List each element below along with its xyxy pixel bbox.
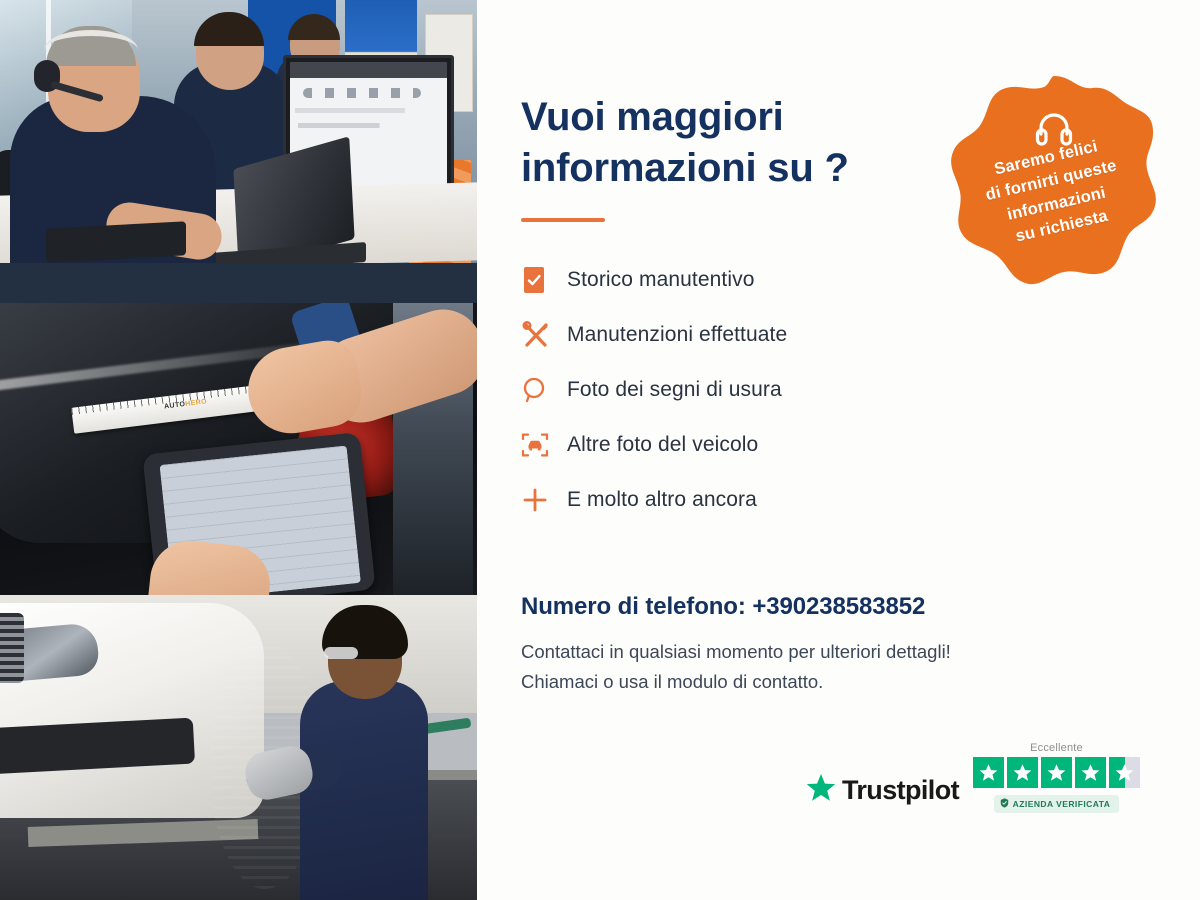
star-rating xyxy=(973,757,1140,788)
page-title: Vuoi maggiori informazioni su ? xyxy=(521,92,951,194)
star-filled-1 xyxy=(973,757,1004,788)
call-center-agents-photo xyxy=(0,0,477,303)
plus-icon xyxy=(521,486,567,514)
status-badge: AZIENDA VERIFICATA xyxy=(994,795,1120,813)
headline-line-2: informazioni su ? xyxy=(521,146,849,190)
feature-label: E molto altro ancora xyxy=(567,488,757,512)
rating-label: Eccellente xyxy=(1030,742,1083,754)
trustpilot-rating: Eccellente xyxy=(973,742,1140,813)
vehicle-inspection-photo: AUTOHERO xyxy=(0,303,477,595)
photo-column: AUTOHERO xyxy=(0,0,477,900)
star-filled-3 xyxy=(1041,757,1072,788)
star-half-5 xyxy=(1109,757,1140,788)
contact-subtext-line-2: Chiamaci o usa il modulo di contatto. xyxy=(521,667,1111,697)
star-filled-4 xyxy=(1075,757,1106,788)
shield-check-icon xyxy=(1000,798,1009,810)
feature-label: Storico manutentivo xyxy=(567,268,755,292)
magnifier-icon xyxy=(521,376,567,404)
contact-subtext-line-1: Contattaci in qualsiasi momento per ulte… xyxy=(521,637,1111,667)
contact-subtext: Contattaci in qualsiasi momento per ulte… xyxy=(521,637,1111,697)
trustpilot-logo: Trustpilot xyxy=(806,773,959,813)
list-item: E molto altro ancora xyxy=(521,472,1146,527)
list-item: Manutenzioni effettuate xyxy=(521,307,1146,362)
headline-line-1: Vuoi maggiori xyxy=(521,95,784,139)
verified-label: AZIENDA VERIFICATA xyxy=(1013,799,1111,809)
star-filled-2 xyxy=(1007,757,1038,788)
trustpilot-star-icon xyxy=(806,773,836,807)
title-underline-divider xyxy=(521,218,605,222)
phone-number-line: Numero di telefono: +390238583852 xyxy=(521,593,1146,621)
phone-number[interactable]: +390238583852 xyxy=(752,593,925,620)
phone-label: Numero di telefono: xyxy=(521,593,752,620)
promo-page: AUTOHERO xyxy=(0,0,1200,900)
workshop-tyre-check-photo xyxy=(0,595,477,900)
trustpilot-brand-name: Trustpilot xyxy=(842,775,959,806)
feature-label: Altre foto del veicolo xyxy=(567,433,758,457)
list-item: Foto dei segni di usura xyxy=(521,362,1146,417)
feature-label: Manutenzioni effettuate xyxy=(567,323,787,347)
document-check-icon xyxy=(521,265,567,295)
list-item: Altre foto del veicolo xyxy=(521,417,1146,472)
feature-label: Foto dei segni di usura xyxy=(567,378,782,402)
service-promise-badge: Saremo felici di fornirti queste informa… xyxy=(948,74,1160,296)
car-scan-icon xyxy=(521,431,567,459)
tools-cross-icon xyxy=(521,320,567,350)
trustpilot-widget[interactable]: Trustpilot Eccellente xyxy=(806,742,1140,813)
